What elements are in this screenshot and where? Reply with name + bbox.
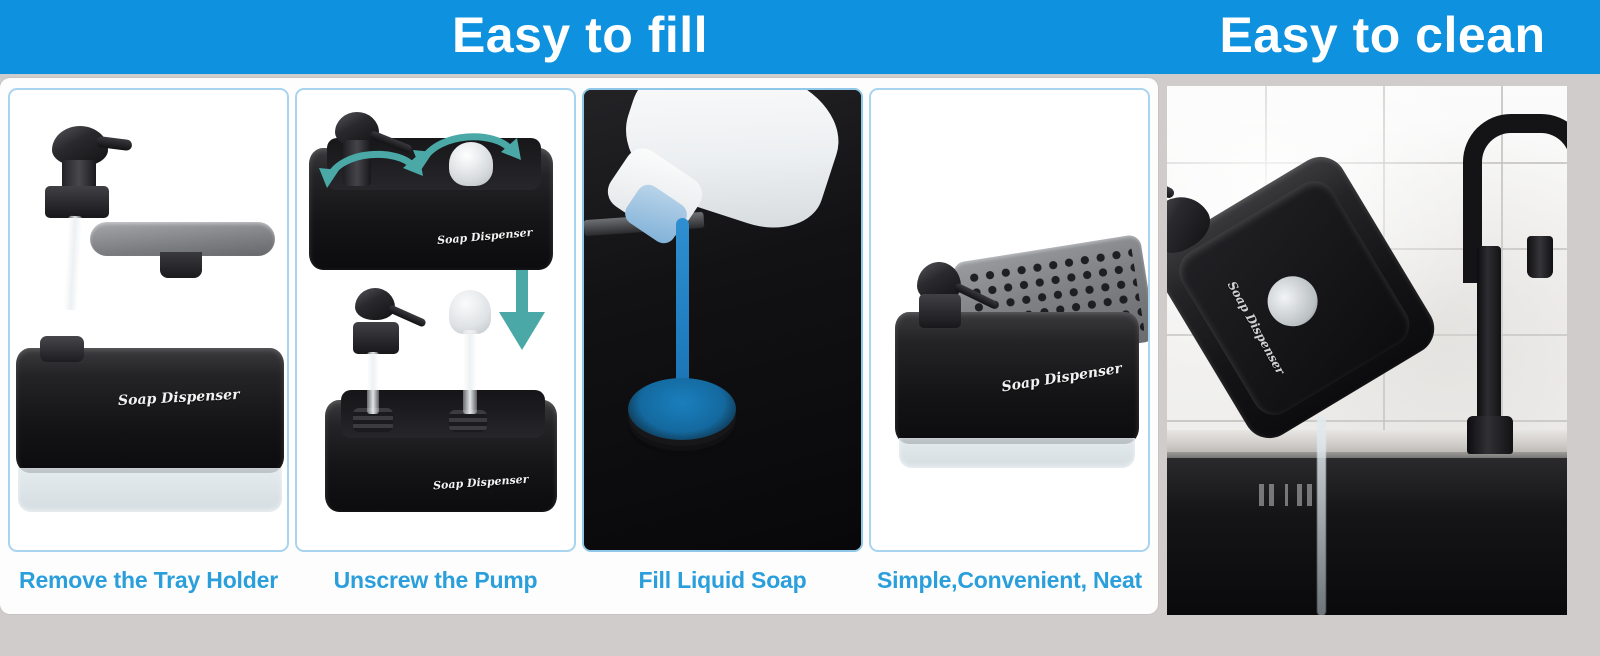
step-panel-4[interactable]: Soap Dispenser: [869, 88, 1150, 552]
caption-step-3: Fill Liquid Soap: [582, 554, 863, 606]
step-panel-1[interactable]: Soap Dispenser: [8, 88, 289, 552]
draining-water-stream: [1317, 416, 1326, 615]
sink-basin: [1167, 458, 1567, 615]
easy-to-clean-photo[interactable]: Soap Dispenser: [1167, 86, 1567, 615]
pump-head-icon-3: [355, 288, 395, 320]
header-banner: Easy to fill Easy to clean: [0, 0, 1600, 74]
assembled-reservoir: [899, 438, 1135, 468]
step-captions: Remove the Tray Holder Unscrew the Pump …: [8, 554, 1150, 606]
valve-tube-icon: [463, 330, 477, 414]
step-panels: Soap Dispenser Soap Dispenser: [8, 88, 1150, 548]
caption-step-4: Simple,Convenient, Neat: [869, 554, 1150, 606]
sink-logo-mark: [1255, 484, 1321, 506]
faucet-spout-icon: [1527, 236, 1553, 278]
step-panel-2[interactable]: Soap Dispenser: [295, 88, 576, 552]
base-neck-port-icon: [40, 336, 84, 362]
rotate-arrow-valve-icon: [409, 120, 525, 180]
header-title-right: Easy to clean: [1165, 0, 1600, 74]
base-reservoir: [18, 468, 282, 512]
pump-dip-tube-icon: [64, 216, 83, 311]
step-panel-3[interactable]: [582, 88, 863, 552]
pump-collar-icon-3: [353, 322, 399, 354]
tray-holder-stem-icon: [160, 252, 202, 278]
valve-assembly-icon: [449, 290, 491, 334]
dispenser-base: [16, 348, 284, 473]
steps-card: Soap Dispenser Soap Dispenser: [0, 78, 1158, 614]
down-arrow-icon: [495, 270, 549, 354]
header-title-left: Easy to fill: [0, 0, 1160, 74]
pump-collar-icon-4: [919, 294, 961, 328]
tray-holder-icon: [90, 222, 275, 256]
pump-collar-icon: [45, 186, 109, 218]
faucet-base-icon: [1467, 416, 1513, 454]
caption-step-2: Unscrew the Pump: [295, 554, 576, 606]
caption-step-1: Remove the Tray Holder: [8, 554, 289, 606]
infographic-root: Easy to fill Easy to clean Soap Dispen: [0, 0, 1600, 656]
refill-opening: [628, 378, 736, 440]
pump-dip-tube-icon-3: [367, 352, 379, 414]
